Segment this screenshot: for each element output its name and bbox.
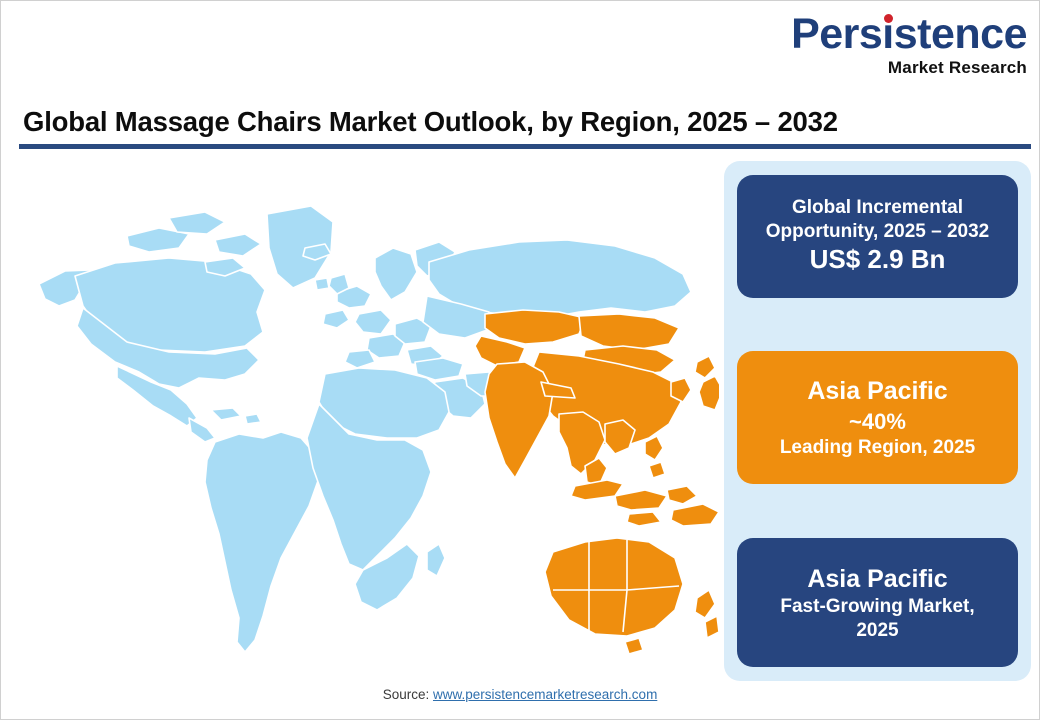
metrics-panel: Global Incremental Opportunity, 2025 – 2… <box>724 161 1031 681</box>
card-3-caption-line2: 2025 <box>856 619 898 643</box>
logo-red-dot-icon <box>884 14 893 23</box>
infographic-page: Persistence Market Research Global Massa… <box>0 0 1040 720</box>
logo-subtitle: Market Research <box>791 59 1027 76</box>
company-logo: Persistence Market Research <box>791 13 1027 76</box>
world-map <box>19 166 719 676</box>
map-region-asia-pacific <box>475 310 719 654</box>
card-leading-region: Asia Pacific ~40% Leading Region, 2025 <box>737 351 1018 484</box>
card-3-caption-line1: Fast-Growing Market, <box>780 595 974 619</box>
source-link[interactable]: www.persistencemarketresearch.com <box>433 687 657 702</box>
page-title: Global Massage Chairs Market Outlook, by… <box>23 106 838 138</box>
logo-brand-text: Persistence <box>791 13 1027 56</box>
title-underline-rule <box>19 144 1031 149</box>
card-2-caption: Leading Region, 2025 <box>780 436 975 460</box>
card-fast-growing-market: Asia Pacific Fast-Growing Market, 2025 <box>737 538 1018 667</box>
card-2-share: ~40% <box>849 408 906 437</box>
card-global-incremental-opportunity: Global Incremental Opportunity, 2025 – 2… <box>737 175 1018 298</box>
card-3-region: Asia Pacific <box>807 563 947 596</box>
logo-brand-label: Persistence <box>791 10 1027 58</box>
card-1-value: US$ 2.9 Bn <box>810 243 946 276</box>
card-1-line2: Opportunity, 2025 – 2032 <box>766 220 990 244</box>
source-line: Source: www.persistencemarketresearch.co… <box>1 687 1039 702</box>
card-2-region: Asia Pacific <box>807 375 947 408</box>
world-map-svg <box>19 166 719 676</box>
card-1-line1: Global Incremental <box>792 196 963 220</box>
source-label: Source: <box>383 687 430 702</box>
